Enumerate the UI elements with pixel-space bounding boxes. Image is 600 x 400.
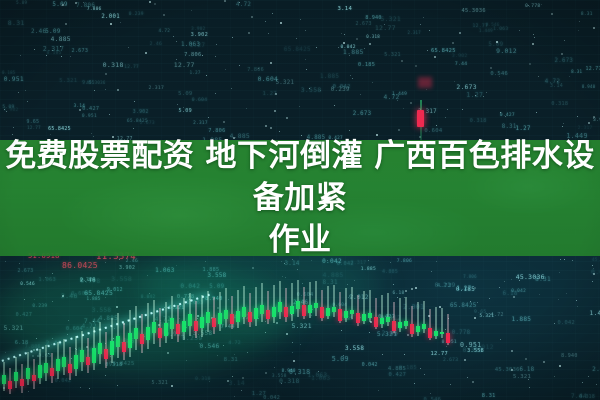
- data-dot: [300, 19, 301, 20]
- headline-banner: 免费股票配资 地下河倒灌 广西百色排水设备加紧 作业: [0, 140, 600, 256]
- data-number: 2.317: [149, 86, 165, 91]
- data-dot: [427, 50, 428, 51]
- data-number: 0.427: [500, 113, 515, 118]
- data-number: 3.902: [191, 32, 208, 38]
- candlestick: [188, 293, 192, 400]
- data-dot: [352, 78, 353, 79]
- data-dot: [13, 127, 14, 128]
- candlestick: [200, 295, 204, 400]
- banner-image-root: 0.0420.42765.84258.94012.777.8061.0630.1…: [0, 0, 600, 400]
- candlestick: [368, 290, 372, 400]
- data-number: 5.09: [178, 91, 192, 97]
- data-dot: [239, 65, 240, 66]
- candlestick: [374, 298, 378, 400]
- candlestick: [422, 301, 426, 400]
- data-dot: [216, 44, 217, 45]
- data-number: 7.806: [184, 52, 201, 58]
- data-dot: [490, 67, 492, 69]
- data-dot: [529, 63, 531, 65]
- data-number: 0.604: [424, 128, 442, 134]
- candlestick: [392, 302, 396, 400]
- data-dot: [274, 110, 276, 112]
- data-number: 8.31: [571, 69, 582, 74]
- candlestick: [134, 306, 138, 400]
- data-number: 2.673: [353, 111, 372, 117]
- data-number: 2.673: [71, 48, 88, 54]
- data-dot: [429, 30, 430, 31]
- data-dot: [316, 47, 317, 48]
- data-dot: [398, 129, 400, 131]
- data-number: 9.65: [82, 81, 95, 86]
- data-number: 0.318: [551, 101, 568, 107]
- candlestick: [50, 353, 54, 400]
- data-dot: [415, 65, 417, 67]
- data-dot: [149, 1, 151, 3]
- data-dot: [215, 93, 216, 94]
- candlestick: [86, 338, 90, 400]
- data-dot: [224, 0, 226, 2]
- data-number: 2.317: [578, 126, 593, 131]
- candlestick: [302, 287, 306, 400]
- data-number: 0.185: [358, 62, 375, 68]
- data-dot: [454, 81, 455, 82]
- candlestick: [68, 347, 72, 400]
- data-dot: [305, 30, 306, 31]
- data-dot: [286, 117, 288, 119]
- candlestick: [170, 296, 174, 400]
- data-dot: [434, 56, 436, 58]
- data-dot: [145, 52, 147, 54]
- data-dot: [83, 2, 84, 3]
- data-number: 1.27: [516, 126, 531, 132]
- candlestick: [266, 291, 270, 400]
- candlestick: [356, 295, 360, 400]
- data-dot: [369, 43, 371, 45]
- data-number: 0.546: [486, 22, 500, 27]
- candlestick: [164, 302, 168, 400]
- candlestick: [278, 281, 282, 400]
- data-dot: [496, 41, 498, 43]
- data-number: 0.185: [2, 70, 16, 75]
- data-number: 3.902: [452, 54, 468, 59]
- data-dot: [279, 131, 280, 132]
- data-number: 0.042: [333, 84, 351, 90]
- candlestick: [224, 288, 228, 400]
- candlestick: [242, 286, 246, 400]
- data-dot: [176, 59, 177, 60]
- data-number: 65.8425: [431, 48, 456, 54]
- data-dot: [334, 105, 335, 106]
- candlestick: [212, 297, 216, 400]
- data-number: 12.77: [174, 61, 195, 69]
- data-number: 7.44: [455, 62, 468, 67]
- data-dot: [223, 121, 225, 123]
- data-dot: [265, 21, 266, 22]
- candlestick: [284, 288, 288, 400]
- data-dot: [538, 76, 539, 77]
- candlestick: [26, 352, 30, 400]
- data-dot: [593, 27, 595, 29]
- data-dot: [18, 92, 19, 93]
- data-dot: [534, 37, 535, 38]
- candlestick: [62, 339, 66, 400]
- data-number: 5.321: [384, 52, 401, 58]
- candlestick: [272, 285, 276, 400]
- data-number: 8.31: [8, 19, 25, 27]
- data-dot: [579, 21, 580, 22]
- headline-text: 免费股票配资 地下河倒灌 广西百色排水设备加紧 作业: [0, 135, 600, 261]
- data-dot: [519, 30, 520, 31]
- faint-red-marker: [418, 77, 432, 88]
- data-dot: [94, 90, 95, 91]
- data-number: 45.3036: [461, 8, 485, 14]
- candlestick: [350, 287, 354, 400]
- data-dot: [551, 13, 553, 15]
- candlestick: [20, 364, 24, 400]
- candlestick: [254, 287, 258, 400]
- data-dot: [344, 34, 345, 35]
- candlestick: [152, 300, 156, 400]
- data-dot: [356, 38, 358, 40]
- data-dot: [272, 13, 273, 14]
- data-dot: [34, 49, 35, 50]
- data-dot: [436, 125, 437, 126]
- data-dot: [541, 4, 542, 5]
- data-dot: [401, 60, 403, 62]
- data-number: 65.8425: [284, 47, 311, 53]
- data-dot: [61, 56, 62, 57]
- candlestick: [146, 303, 150, 400]
- data-dot: [215, 56, 216, 57]
- candlestick: [260, 283, 264, 400]
- data-dot: [397, 100, 398, 101]
- data-dot: [360, 94, 361, 95]
- data-dot: [593, 116, 595, 118]
- data-dot: [593, 118, 594, 119]
- candlestick: [434, 307, 438, 400]
- candlestick: [44, 345, 48, 400]
- data-dot: [306, 69, 307, 70]
- candlestick: [320, 290, 324, 400]
- data-dot: [65, 23, 67, 25]
- data-number: 7.806: [76, 3, 95, 9]
- data-dot: [349, 130, 350, 131]
- data-dot: [452, 42, 454, 44]
- candlestick: [122, 323, 126, 400]
- data-dot: [536, 112, 537, 113]
- candlestick: [236, 290, 240, 400]
- candlestick: [2, 362, 6, 400]
- data-dot: [364, 48, 365, 49]
- data-dot: [426, 89, 427, 90]
- data-dot: [109, 114, 110, 115]
- candlestick: [398, 298, 402, 400]
- data-dot: [343, 42, 345, 44]
- candlestick: [314, 281, 318, 400]
- candlestick: [92, 327, 96, 400]
- data-number: 12.77: [27, 125, 41, 130]
- data-number: 0.951: [4, 76, 24, 83]
- data-dot: [202, 55, 203, 56]
- data-number: 0.427: [82, 106, 99, 112]
- candlestick: [128, 309, 132, 400]
- data-number: 5.09: [16, 0, 27, 5]
- data-dot: [403, 108, 404, 109]
- data-dot: [299, 106, 300, 107]
- data-dot: [110, 23, 112, 25]
- data-number: 5.09: [45, 28, 61, 35]
- data-dot: [79, 109, 81, 111]
- data-dot: [270, 127, 272, 129]
- data-number: 7.806: [208, 128, 225, 134]
- data-number: 7.806: [247, 67, 264, 73]
- candlestick: [32, 359, 36, 400]
- data-dot: [70, 56, 71, 57]
- data-number: 0.318: [366, 34, 380, 39]
- data-number: 4.72: [236, 2, 251, 8]
- data-dot: [177, 104, 178, 105]
- data-number: 2.673: [356, 21, 372, 27]
- candlestick: [80, 331, 84, 400]
- candlestick: [248, 293, 252, 400]
- candlestick: [176, 305, 180, 400]
- data-dot: [305, 59, 306, 60]
- candlestick: [158, 308, 162, 400]
- data-number: 9.012: [496, 47, 517, 55]
- data-number: 12.77: [375, 24, 396, 32]
- data-dot: [445, 117, 446, 118]
- candlestick: [38, 349, 42, 400]
- data-dot: [561, 53, 563, 55]
- data-dot: [176, 41, 177, 42]
- data-dot: [133, 128, 134, 129]
- data-number: 2.317: [193, 121, 208, 126]
- data-dot: [105, 89, 106, 90]
- data-dot: [105, 73, 107, 75]
- candlestick: [332, 285, 336, 400]
- candlestick: [98, 322, 102, 400]
- candlestick: [116, 313, 120, 400]
- data-number: 4.72: [545, 78, 561, 85]
- candlestick: [404, 297, 408, 400]
- data-dot: [410, 102, 412, 104]
- candlestick: [14, 357, 18, 400]
- candlestick: [140, 314, 144, 400]
- candlestick: [290, 283, 294, 400]
- data-number: 0.239: [129, 12, 144, 17]
- data-number: 1.27: [190, 70, 201, 75]
- data-number: 65.8425: [48, 126, 71, 132]
- data-dot: [475, 95, 476, 96]
- data-dot: [27, 101, 28, 102]
- data-dot: [423, 17, 424, 18]
- data-number: 2.001: [101, 14, 120, 20]
- data-number: 0.778: [525, 4, 540, 9]
- candlestick: [182, 298, 186, 400]
- data-dot: [154, 3, 156, 5]
- data-number: 8.31: [502, 124, 517, 130]
- data-number: 2.46: [150, 42, 163, 47]
- data-number: 1.449: [479, 28, 493, 33]
- data-dot: [275, 93, 277, 95]
- data-number: 9.65: [27, 120, 40, 125]
- data-number: 1.885: [343, 48, 364, 56]
- data-dot: [25, 90, 26, 91]
- data-dot: [268, 33, 269, 34]
- data-dot: [384, 24, 385, 25]
- data-number: 5.09: [178, 108, 191, 114]
- candlestick: [428, 309, 432, 400]
- candlestick: [344, 288, 348, 400]
- candlestick: [440, 308, 444, 400]
- data-dot: [265, 125, 267, 127]
- data-dot: [447, 109, 448, 110]
- data-number: 3.14: [337, 6, 352, 12]
- data-dot: [20, 55, 21, 56]
- data-number: 2.46: [31, 29, 46, 35]
- data-number: 3.558: [301, 86, 322, 94]
- data-dot: [564, 40, 565, 41]
- candlestick: [362, 291, 366, 400]
- candlestick: [416, 302, 420, 400]
- data-dot: [578, 30, 579, 31]
- data-number: 3.902: [133, 110, 149, 115]
- data-number: 4.885: [51, 36, 71, 43]
- candlestick: [104, 332, 108, 400]
- candlestick: [8, 368, 12, 400]
- data-number: 1.27: [189, 42, 205, 49]
- data-number: 1.063: [493, 27, 508, 32]
- data-dot: [246, 108, 247, 109]
- data-dot: [208, 117, 209, 118]
- data-dot: [128, 47, 129, 48]
- data-number: 5.321: [59, 78, 77, 84]
- data-number: 12.77: [124, 65, 139, 70]
- data-dot: [588, 122, 590, 124]
- data-dot: [280, 22, 282, 24]
- data-number: 2.673: [555, 58, 574, 64]
- data-number: 3.902: [593, 118, 600, 123]
- data-dot: [225, 69, 226, 70]
- candlestick: [230, 296, 234, 400]
- data-dot: [350, 75, 351, 76]
- data-dot: [191, 10, 192, 11]
- data-dot: [173, 36, 174, 37]
- data-number: 12.77: [586, 66, 600, 72]
- data-dot: [206, 75, 207, 76]
- data-dot: [459, 32, 461, 34]
- data-number: 5.09: [52, 2, 67, 8]
- data-dot: [420, 24, 421, 25]
- candlestick: [194, 301, 198, 400]
- data-dot: [338, 47, 339, 48]
- data-dot: [533, 34, 534, 35]
- data-number: 0.604: [192, 98, 208, 103]
- candlestick: [308, 282, 312, 400]
- data-dot: [486, 92, 487, 93]
- data-dot: [248, 32, 250, 34]
- data-dot: [163, 14, 165, 16]
- data-dot: [270, 62, 272, 64]
- data-dot: [462, 109, 463, 110]
- data-dot: [562, 126, 563, 127]
- data-number: 2.673: [140, 121, 155, 126]
- headline-line-2: 作业: [0, 219, 600, 261]
- candlestick: [206, 291, 210, 400]
- data-number: 0.318: [103, 61, 124, 69]
- data-dot: [563, 123, 564, 124]
- data-dot: [91, 133, 92, 134]
- data-number: 0.951: [82, 114, 97, 119]
- data-dot: [120, 22, 121, 23]
- candlestick: [56, 342, 60, 400]
- candlestick: [296, 280, 300, 400]
- data-dot: [532, 43, 534, 45]
- candlestick: [410, 306, 414, 400]
- candlestick: [74, 336, 78, 400]
- candlestick: [110, 318, 114, 400]
- data-dot: [372, 82, 373, 83]
- data-number: 1.885: [320, 74, 339, 80]
- data-dot: [341, 33, 342, 34]
- data-dot: [134, 101, 135, 102]
- candlestick: [338, 292, 342, 400]
- data-number: 4.72: [158, 29, 170, 34]
- data-dot: [46, 55, 47, 56]
- data-dot: [499, 76, 500, 77]
- candlestick: [386, 293, 390, 400]
- data-number: 2.317: [407, 30, 421, 35]
- candlestick: [326, 286, 330, 400]
- headline-line-1: 免费股票配资 地下河倒灌 广西百色排水设备加紧: [5, 138, 595, 216]
- data-dot: [232, 37, 233, 38]
- data-dot: [231, 88, 232, 89]
- candlestick: [218, 292, 222, 400]
- candlestick: [446, 314, 450, 400]
- data-number: 5.321: [276, 80, 295, 86]
- data-dot: [117, 89, 119, 91]
- data-dot: [296, 38, 297, 39]
- data-dot: [569, 76, 570, 77]
- data-number: 8.31: [581, 12, 593, 17]
- data-dot: [577, 116, 578, 117]
- data-number: 0.318: [470, 118, 487, 124]
- data-number: 5.321: [380, 16, 400, 23]
- data-dot: [251, 16, 253, 18]
- data-number: 8.940: [582, 84, 596, 89]
- candlestick: [380, 295, 384, 400]
